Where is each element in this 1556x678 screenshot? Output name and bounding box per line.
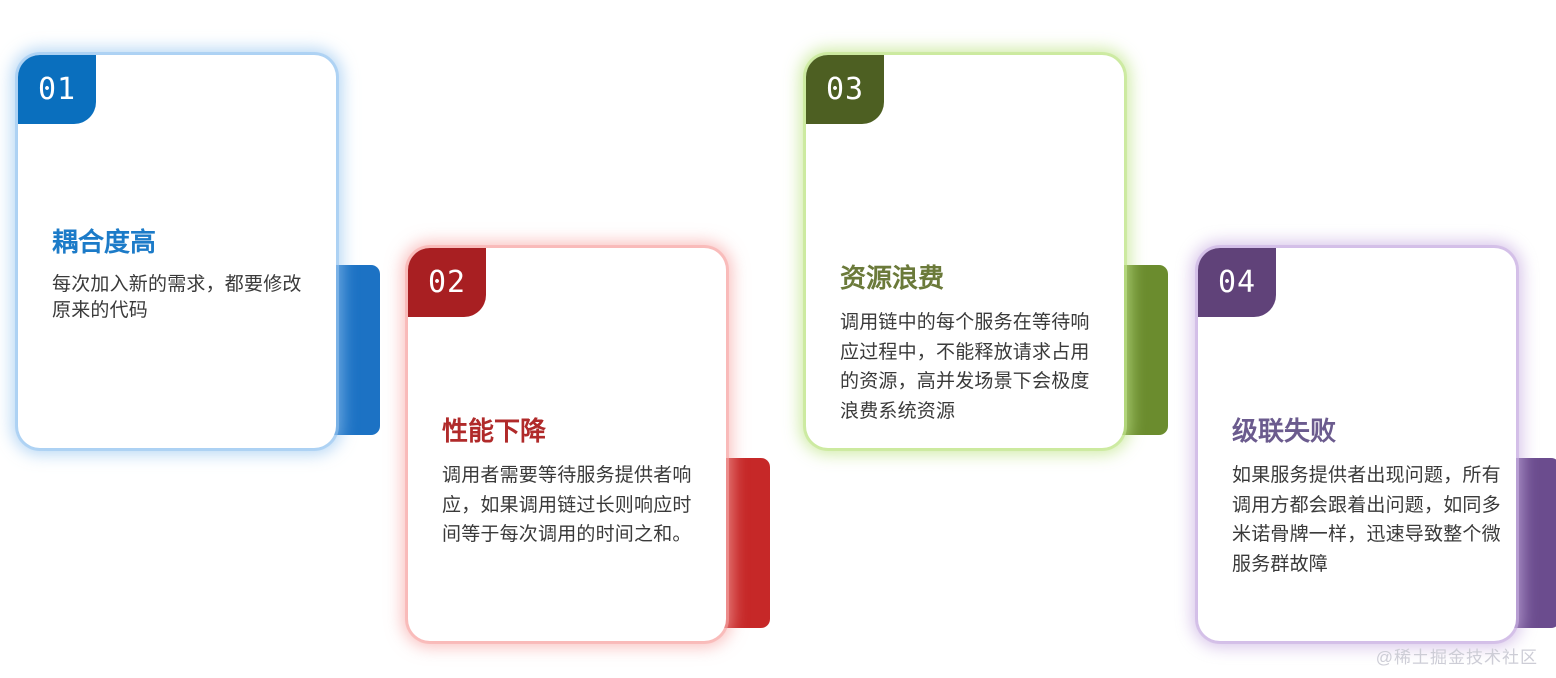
info-card-02[interactable]: 02 性能下降 调用者需要等待服务提供者响应，如果调用链过长则响应时间等于每次调… (408, 248, 726, 641)
card-number-label: 03 (826, 75, 864, 105)
card-content: 性能下降 调用者需要等待服务提供者响应，如果调用链过长则响应时间等于每次调用的时… (442, 416, 710, 550)
card-number-badge: 03 (806, 55, 884, 124)
card-number-badge: 02 (408, 248, 486, 317)
card-number-label: 01 (38, 75, 76, 105)
card-content: 耦合度高 每次加入新的需求，都要修改原来的代码 (52, 227, 318, 325)
info-card-04[interactable]: 04 级联失败 如果服务提供者出现问题，所有调用方都会跟着出问题，如同多米诺骨牌… (1198, 248, 1516, 641)
card-number-badge: 04 (1198, 248, 1276, 317)
card-title: 性能下降 (442, 416, 710, 447)
infographic-canvas: 01 耦合度高 每次加入新的需求，都要修改原来的代码 02 性能下降 调用者需要… (0, 0, 1556, 678)
card-content: 资源浪费 调用链中的每个服务在等待响应过程中，不能释放请求占用的资源，高并发场景… (840, 263, 1108, 426)
card-title: 级联失败 (1232, 416, 1506, 447)
card-description: 如果服务提供者出现问题，所有调用方都会跟着出问题，如同多米诺骨牌一样，迅速导致整… (1232, 461, 1506, 579)
card-title: 资源浪费 (840, 263, 1108, 294)
card-number-badge: 01 (18, 55, 96, 124)
card-title: 耦合度高 (52, 227, 318, 258)
card-content: 级联失败 如果服务提供者出现问题，所有调用方都会跟着出问题，如同多米诺骨牌一样，… (1232, 416, 1506, 579)
card-number-label: 02 (428, 268, 466, 298)
card-description: 每次加入新的需求，都要修改原来的代码 (52, 272, 318, 324)
info-card-03[interactable]: 03 资源浪费 调用链中的每个服务在等待响应过程中，不能释放请求占用的资源，高并… (806, 55, 1124, 448)
watermark: @稀土掘金技术社区 (1376, 643, 1538, 668)
info-card-01[interactable]: 01 耦合度高 每次加入新的需求，都要修改原来的代码 (18, 55, 336, 448)
card-description: 调用者需要等待服务提供者响应，如果调用链过长则响应时间等于每次调用的时间之和。 (442, 461, 710, 549)
card-number-label: 04 (1218, 268, 1256, 298)
card-description: 调用链中的每个服务在等待响应过程中，不能释放请求占用的资源，高并发场景下会极度浪… (840, 308, 1108, 426)
